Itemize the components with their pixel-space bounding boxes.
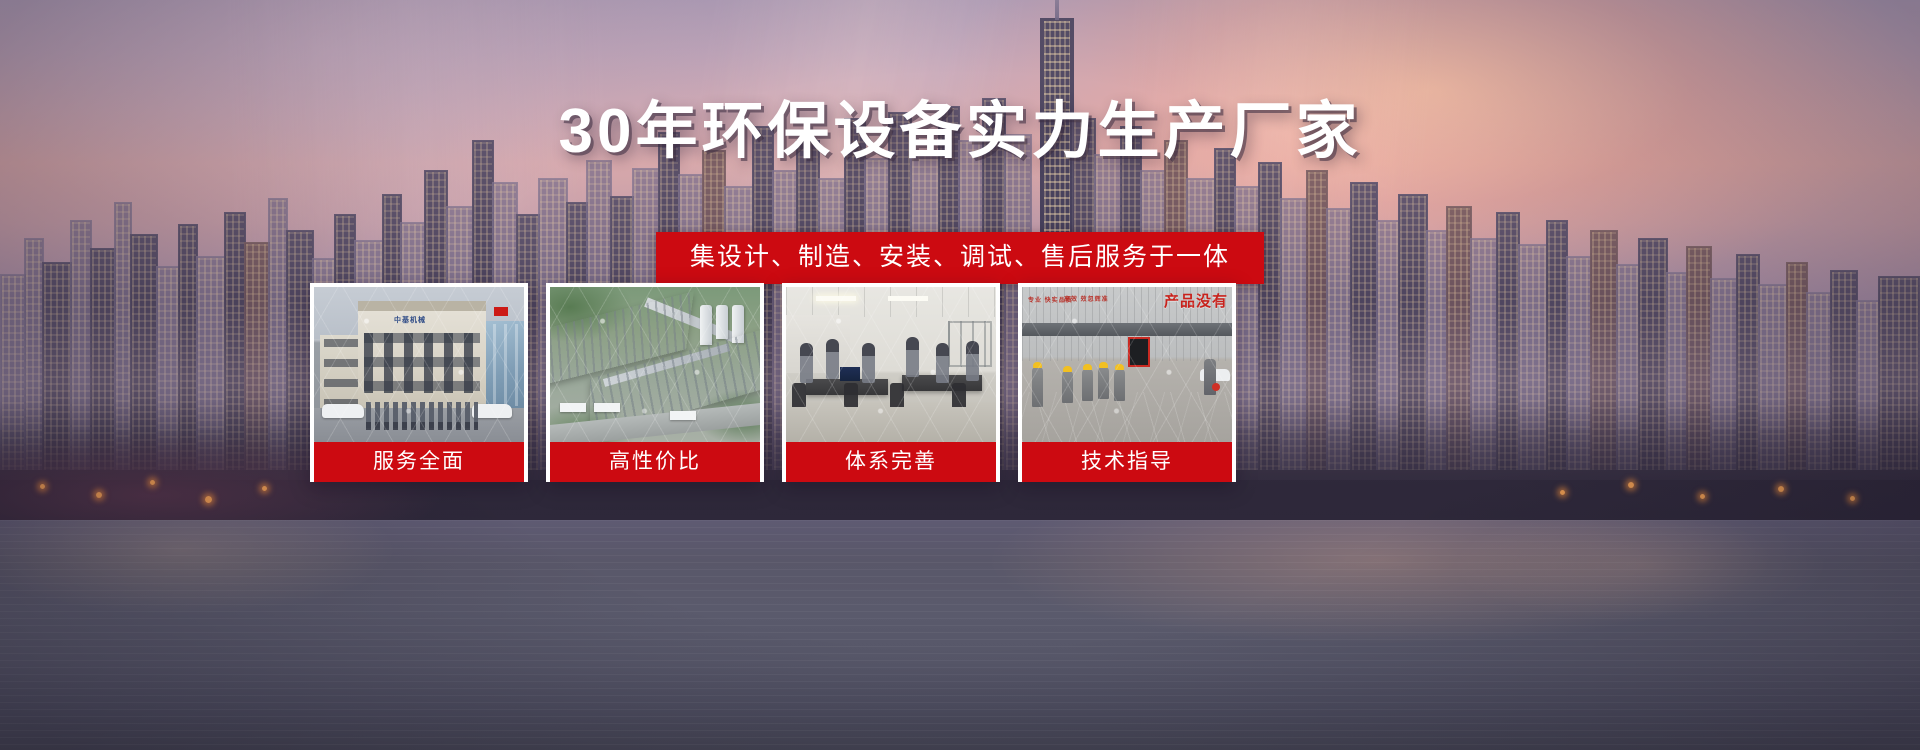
subtitle-badge: 集设计、制造、安装、调试、售后服务于一体 bbox=[656, 232, 1264, 284]
feature-card-list: 中基机械 服务全面 bbox=[310, 283, 1560, 482]
building-sign-text: 中基机械 bbox=[394, 315, 426, 325]
aerial-factory-plant-photo bbox=[550, 287, 760, 442]
feature-card-label: 技术指导 bbox=[1022, 442, 1232, 482]
feature-card[interactable]: 中基机械 服务全面 bbox=[310, 283, 528, 482]
page-title: 30年环保设备实力生产厂家 bbox=[0, 96, 1920, 168]
feature-card[interactable]: 体系完善 bbox=[782, 283, 1000, 482]
feature-card[interactable]: 高性价比 bbox=[546, 283, 764, 482]
feature-card-label: 体系完善 bbox=[786, 442, 996, 482]
feature-card-label: 高性价比 bbox=[550, 442, 760, 482]
promo-banner: 30年环保设备实力生产厂家 集设计、制造、安装、调试、售后服务于一体 中基机械 bbox=[0, 0, 1920, 750]
office-team-meeting-photo bbox=[786, 287, 996, 442]
company-headquarters-building-photo: 中基机械 bbox=[314, 287, 524, 442]
feature-card[interactable]: 专业 快实品质 高效 效忽辉准 产品没有 技术指导 bbox=[1018, 283, 1236, 482]
factory-slogan-right: 高效 效忽辉准 bbox=[1064, 296, 1109, 304]
feature-card-label: 服务全面 bbox=[314, 442, 524, 482]
factory-workers-training-photo: 专业 快实品质 高效 效忽辉准 产品没有 bbox=[1022, 287, 1232, 442]
factory-sign-text: 产品没有 bbox=[1164, 290, 1228, 311]
